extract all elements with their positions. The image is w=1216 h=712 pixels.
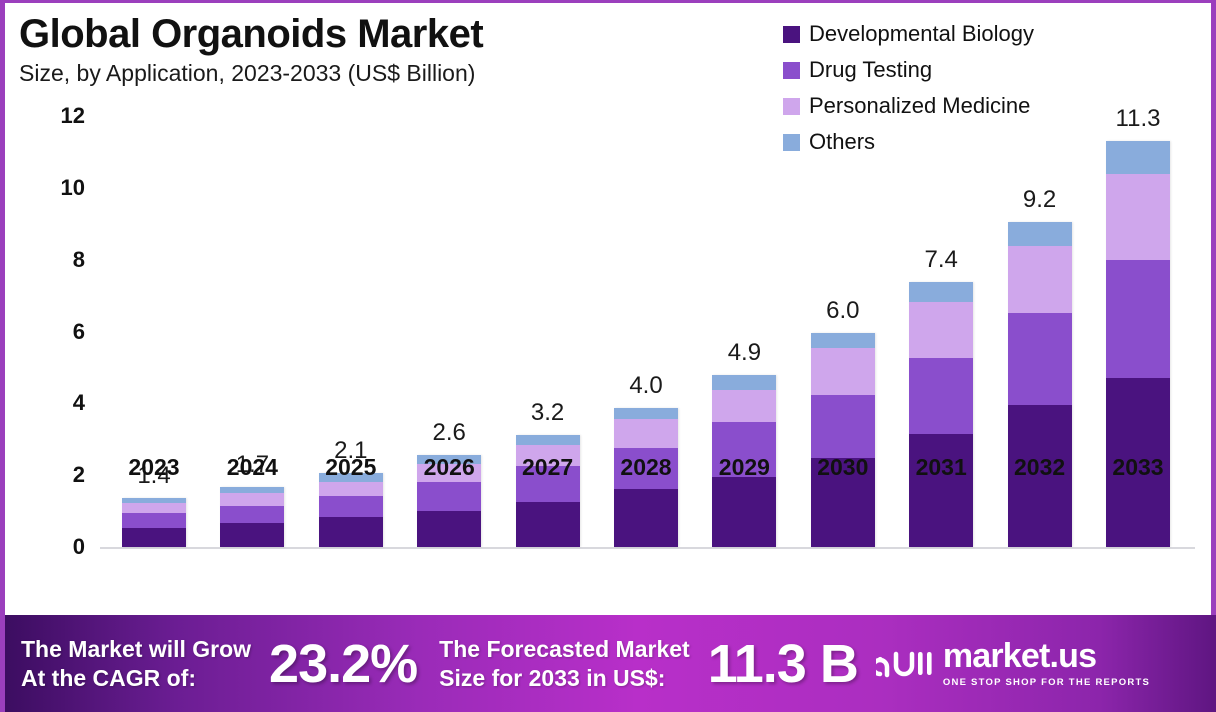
- bar-segment[interactable]: [220, 523, 284, 547]
- bar-group[interactable]: 4.92029: [712, 3, 776, 603]
- stacked-bar[interactable]: [319, 473, 383, 547]
- x-axis-tick-label: 2028: [620, 454, 671, 481]
- bar-segment[interactable]: [516, 435, 580, 445]
- bar-group[interactable]: 2.62026: [417, 3, 481, 603]
- bar-segment[interactable]: [712, 477, 776, 547]
- bar-group[interactable]: 7.42031: [909, 3, 973, 603]
- bar-total-label: 7.4: [925, 246, 958, 274]
- brand-logo: market.us ONE STOP SHOP FOR THE REPORTS: [876, 639, 1150, 688]
- x-axis-tick-label: 2025: [325, 454, 376, 481]
- bar-total-label: 3.2: [531, 399, 564, 427]
- bar-segment[interactable]: [516, 502, 580, 547]
- y-axis-tick-label: 10: [35, 175, 85, 201]
- bar-segment[interactable]: [1008, 222, 1072, 246]
- forecast-label-line2: Size for 2033 in US$:: [439, 664, 690, 692]
- bar-segment[interactable]: [1106, 174, 1170, 260]
- forecast-value: 11.3 B: [708, 633, 858, 695]
- bar-segment[interactable]: [909, 434, 973, 547]
- bar-segment[interactable]: [220, 493, 284, 506]
- bar-group[interactable]: 11.32033: [1106, 3, 1170, 603]
- y-axis-tick-label: 4: [35, 390, 85, 416]
- stacked-bar[interactable]: [122, 498, 186, 547]
- bar-segment[interactable]: [909, 302, 973, 358]
- bar-segment[interactable]: [614, 419, 678, 448]
- bar-segment[interactable]: [220, 506, 284, 523]
- bar-segment[interactable]: [909, 282, 973, 302]
- bar-segment[interactable]: [712, 390, 776, 422]
- x-axis-tick-label: 2029: [719, 454, 770, 481]
- x-axis-tick-label: 2026: [424, 454, 475, 481]
- x-axis-tick-label: 2023: [128, 454, 179, 481]
- bar-total-label: 6.0: [826, 297, 859, 325]
- market-us-mark-icon: [876, 644, 934, 684]
- y-axis-tick-label: 0: [35, 534, 85, 560]
- bar-segment[interactable]: [122, 503, 186, 513]
- y-axis-tick-label: 6: [35, 319, 85, 345]
- bar-segment[interactable]: [614, 408, 678, 419]
- y-axis-tick-label: 8: [35, 247, 85, 273]
- cagr-label-line2: At the CAGR of:: [21, 664, 251, 692]
- bar-segment[interactable]: [614, 489, 678, 547]
- footer-banner: The Market will Grow At the CAGR of: 23.…: [5, 615, 1216, 712]
- x-axis-tick-label: 2031: [916, 454, 967, 481]
- bar-segment[interactable]: [1106, 260, 1170, 379]
- stacked-bar[interactable]: [811, 333, 875, 547]
- x-axis-tick-label: 2033: [1112, 454, 1163, 481]
- bar-segment[interactable]: [122, 528, 186, 547]
- stacked-bar[interactable]: [1008, 222, 1072, 547]
- forecast-label-line1: The Forecasted Market: [439, 635, 690, 663]
- y-axis-tick-label: 2: [35, 462, 85, 488]
- bar-total-label: 4.0: [629, 372, 662, 400]
- forecast-label: The Forecasted Market Size for 2033 in U…: [439, 635, 690, 691]
- brand-name: market.us: [943, 639, 1150, 673]
- x-axis-tick-label: 2030: [817, 454, 868, 481]
- x-axis-tick-label: 2024: [227, 454, 278, 481]
- brand-tagline: ONE STOP SHOP FOR THE REPORTS: [943, 677, 1150, 688]
- bar-segment[interactable]: [319, 517, 383, 547]
- bar-total-label: 9.2: [1023, 186, 1056, 214]
- bar-segment[interactable]: [1008, 246, 1072, 313]
- bar-group[interactable]: 1.42023: [122, 3, 186, 603]
- stacked-bar[interactable]: [909, 282, 973, 547]
- bar-group[interactable]: 2.12025: [319, 3, 383, 603]
- bar-group[interactable]: 9.22032: [1008, 3, 1072, 603]
- bar-group[interactable]: 4.02028: [614, 3, 678, 603]
- bar-segment[interactable]: [319, 496, 383, 517]
- cagr-label-line1: The Market will Grow: [21, 635, 251, 663]
- bar-total-label: 2.6: [433, 419, 466, 447]
- bar-segment[interactable]: [122, 513, 186, 528]
- bar-group[interactable]: 3.22027: [516, 3, 580, 603]
- bar-group[interactable]: 1.72024: [220, 3, 284, 603]
- cagr-label: The Market will Grow At the CAGR of:: [21, 635, 251, 691]
- bar-segment[interactable]: [811, 395, 875, 458]
- x-axis-tick-label: 2032: [1014, 454, 1065, 481]
- bar-group[interactable]: 6.02030: [811, 3, 875, 603]
- bar-segment[interactable]: [811, 348, 875, 395]
- brand-text-block: market.us ONE STOP SHOP FOR THE REPORTS: [943, 639, 1150, 688]
- bar-total-label: 4.9: [728, 339, 761, 367]
- stacked-bar[interactable]: [220, 487, 284, 547]
- bar-segment[interactable]: [1008, 313, 1072, 405]
- y-axis-tick-label: 12: [35, 103, 85, 129]
- bar-segment[interactable]: [319, 482, 383, 496]
- bar-segment[interactable]: [712, 375, 776, 390]
- bar-segment[interactable]: [811, 333, 875, 348]
- chart-plot-area: 024681012 1.420231.720242.120252.620263.…: [5, 3, 1216, 603]
- bar-segment[interactable]: [417, 511, 481, 547]
- cagr-value: 23.2%: [269, 633, 417, 695]
- stacked-bar[interactable]: [516, 435, 580, 547]
- chart-infographic: Global Organoids Market Size, by Applica…: [0, 0, 1216, 712]
- stacked-bar[interactable]: [1106, 141, 1170, 547]
- x-axis-tick-label: 2027: [522, 454, 573, 481]
- bar-segment[interactable]: [1106, 141, 1170, 173]
- bar-total-label: 11.3: [1116, 105, 1161, 133]
- bar-segment[interactable]: [909, 358, 973, 434]
- bar-segment[interactable]: [417, 482, 481, 511]
